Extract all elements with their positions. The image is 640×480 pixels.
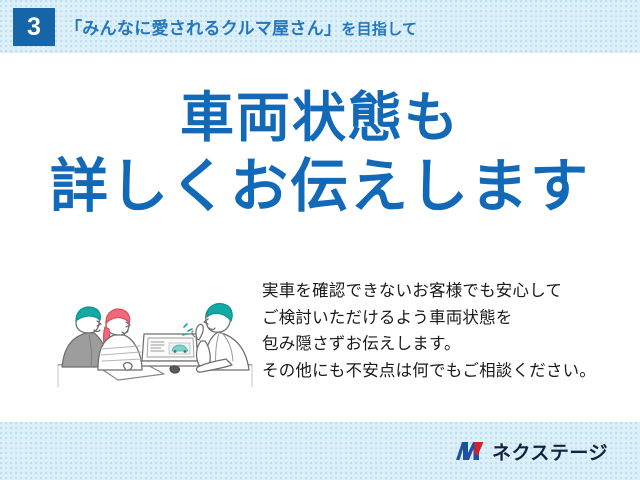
lower-section: 実車を確認できないお客様でも安心して ご検討いただけるよう車両状態を 包み隠さず…: [0, 275, 640, 400]
description-line-2: ご検討いただけるよう車両状態を: [262, 305, 632, 332]
description-text: 実車を確認できないお客様でも安心して ご検討いただけるよう車両状態を 包み隠さず…: [262, 278, 632, 385]
step-number-badge: 3: [13, 8, 55, 46]
nexstage-logo-icon: [455, 440, 485, 462]
main-content: 車両状態も 詳しくお伝えします: [0, 53, 640, 422]
description-line-3: 包み隠さずお伝えします。: [262, 331, 632, 358]
header-title: 「みんなに愛されるクルマ屋さん」を目指して: [65, 14, 417, 39]
header-content: 3 「みんなに愛されるクルマ屋さん」を目指して: [0, 0, 640, 53]
description-line-1: 実車を確認できないお客様でも安心して: [262, 278, 632, 305]
description-line-4: その他にも不安点は何でもご相談ください。: [262, 358, 632, 385]
header-title-quoted: 「みんなに愛されるクルマ屋さん」: [65, 19, 341, 38]
promo-banner: 3 「みんなに愛されるクルマ屋さん」を目指して 車両状態も 詳しくお伝えします: [0, 0, 640, 480]
headline: 車両状態も 詳しくお伝えします: [0, 90, 640, 218]
header-title-tail: を目指して: [341, 21, 417, 38]
headline-line-1: 車両状態も: [0, 90, 640, 147]
header-band: 3 「みんなに愛されるクルマ屋さん」を目指して: [0, 0, 640, 53]
brand-name: ネクステージ: [492, 438, 608, 465]
consultation-illustration: [56, 275, 254, 393]
footer-band: ネクステージ: [0, 422, 640, 480]
headline-line-2: 詳しくお伝えします: [0, 157, 640, 218]
brand-lockup: ネクステージ: [455, 422, 608, 480]
